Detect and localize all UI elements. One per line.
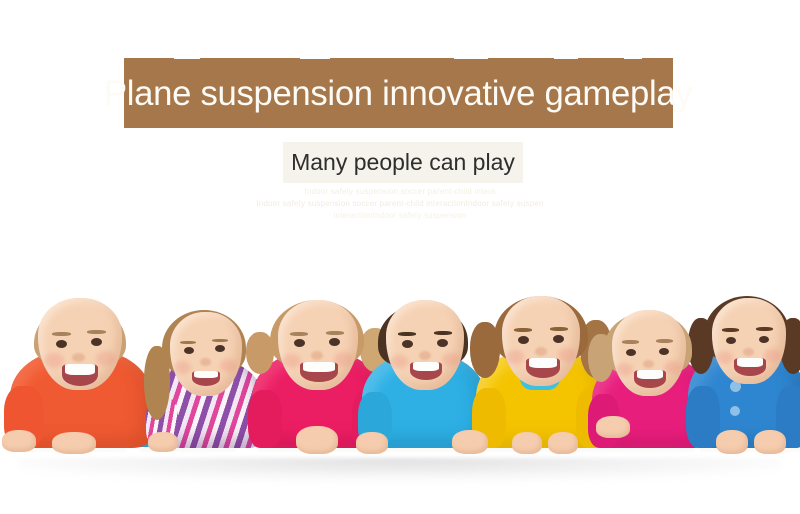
eyebrow-right [212,339,228,342]
cheek-right [664,361,681,374]
eye-right [759,336,769,343]
cheek-right [220,359,237,372]
hand [148,432,178,452]
hand-left [356,432,388,454]
banner-edge-artifact [624,55,642,59]
eye-left [184,347,194,354]
eyebrow-left [514,328,532,332]
cheek-left [174,361,191,374]
eye-right [215,345,225,352]
subtitle-text: Many people can play [291,151,515,174]
eye-left [518,336,529,344]
teeth [737,358,764,367]
nose [72,353,85,362]
hand [596,416,630,438]
children-photo [0,262,800,514]
eye-left [402,340,413,348]
child-1-orange-shirt [8,288,158,478]
eye-right [91,338,102,346]
page-title: Plane suspension innovative gameplay [104,76,692,111]
eyebrow-right [326,331,344,335]
nose [419,351,431,360]
cheek-right [96,351,116,366]
cheek-left [716,351,733,364]
cheek-left [616,363,633,376]
cheek-right [442,353,460,366]
eyebrow-left [180,341,196,344]
mouth [410,362,442,380]
mouth [62,364,98,386]
hand-right [754,430,786,454]
nose [535,347,547,356]
promo-banner-page: Plane suspension innovative gameplay Man… [0,0,800,514]
jacket-button-2 [730,406,740,416]
eyebrow-right [656,339,673,343]
nose [311,351,323,360]
mouth [634,370,666,388]
nose [200,358,211,366]
eyebrow-right [756,327,773,331]
eyebrow-left [722,328,739,332]
eyebrow-left [290,332,308,336]
eye-right [659,348,669,355]
hand-right [52,432,96,454]
mouth [300,362,338,382]
teeth [303,362,335,372]
teeth [529,358,558,368]
hand-left [716,430,748,454]
eyebrow-right [550,327,568,331]
banner-edge-artifact [554,55,578,59]
eye-left [56,340,67,348]
photo-bottom-fade [0,470,800,514]
subtitle-box: Many people can play [283,142,523,183]
eyebrow-right [434,331,452,335]
hand-right [452,430,488,454]
fine-print-line-1: Indoor safety suspension soccer parent-c… [0,186,800,198]
nose [643,360,654,368]
eye-left [726,337,736,344]
eye-left [626,349,636,356]
mouth [192,371,220,386]
cheek-left [282,354,301,368]
nose [743,348,754,356]
child-7-denim-jacket [688,282,800,478]
cheek-right [764,349,781,362]
fine-print-line-2: Indoor safety suspension soccer parent-c… [0,198,800,210]
hand-right [548,432,578,454]
arm-left [686,386,720,448]
eye-right [553,335,564,343]
banner-edge-artifact [174,55,200,59]
hands-clasped [296,426,338,454]
eyebrow-left [52,332,71,336]
teeth [637,370,664,379]
teeth [194,371,218,378]
eye-right [437,339,448,347]
banner-edge-artifact [300,55,330,59]
cheek-left [506,350,524,364]
cheek-left [44,353,64,368]
eyebrow-right [87,330,106,334]
cheek-left [390,355,408,368]
hand-left [512,432,542,454]
cheek-right [558,348,576,362]
eyebrow-left [398,332,416,336]
title-banner: Plane suspension innovative gameplay [124,58,673,128]
hand-left [2,430,36,452]
arm-left [248,390,282,448]
teeth [413,362,440,371]
fine-print-line-3: interactionIndoor safety suspension [0,210,800,222]
mouth [526,358,560,378]
eye-right [329,338,340,346]
teeth [65,364,95,375]
banner-edge-artifact [454,55,488,59]
eyebrow-left [622,340,639,344]
eye-left [294,339,305,347]
fine-print-block: Indoor safety suspension soccer parent-c… [0,186,800,222]
mouth [734,358,766,376]
